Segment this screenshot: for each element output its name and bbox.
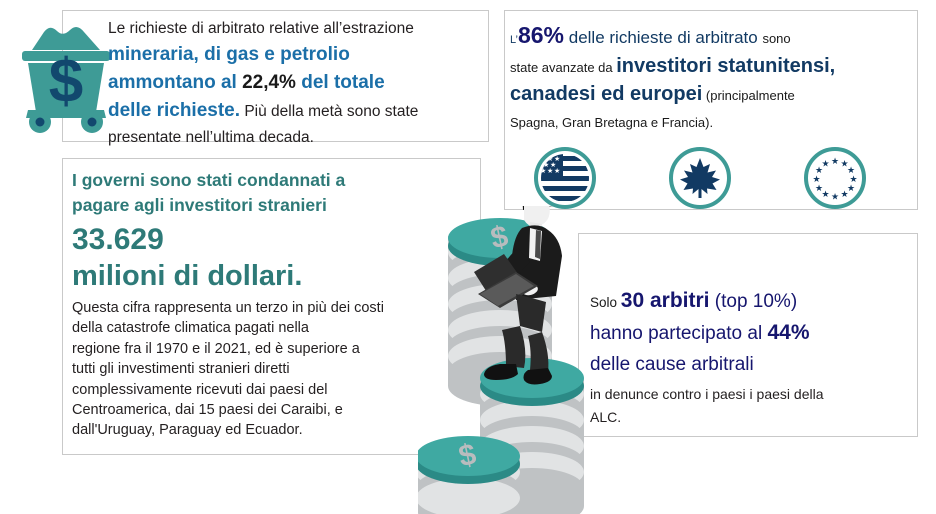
european-union-flag-icon: ★ ★ ★ ★ ★ ★ ★ ★ ★ ★ ★ ★	[803, 146, 867, 210]
gov-body-line-5: Centroamerica, dai 15 paesi dei Caraibi,…	[72, 402, 343, 418]
investors-line4: Spagna, Gran Bretagna e Francia).	[510, 115, 713, 130]
arb-stat-percent: 44%	[767, 321, 809, 344]
svg-text:★: ★	[831, 156, 839, 166]
government-payouts-body: Questa cifra rappresenta un terzo in più…	[72, 298, 390, 441]
canada-flag-icon	[668, 146, 732, 210]
investor-origin-text: L’86% delle richieste di arbitrato sono …	[510, 22, 914, 136]
svg-text:★: ★	[812, 174, 820, 184]
svg-text:★: ★	[547, 167, 553, 175]
svg-text:★: ★	[554, 167, 560, 175]
mining-claims-text: Le richieste di arbitrato relative all’e…	[108, 16, 488, 150]
gov-body-line-1: della catastrofe climatica pagati nella	[72, 320, 309, 336]
mining-line-1: Le richieste di arbitrato relative all’e…	[108, 20, 414, 37]
gov-heading-line-1: I governi sono stati condannati a	[72, 170, 345, 190]
united-states-flag-icon: ★★★ ★★ ★★★	[533, 146, 597, 210]
svg-text:★: ★	[540, 167, 546, 175]
svg-text:★: ★	[831, 192, 839, 202]
mining-line-4-rest: Più della metà sono state	[240, 103, 418, 120]
mining-line-3a: ammontano al	[108, 72, 242, 93]
svg-text:★: ★	[821, 159, 829, 169]
coin-stacks-with-businessman: $ $	[418, 206, 618, 514]
svg-text:★: ★	[815, 183, 823, 193]
arb-stat-count: 30 arbitri	[621, 289, 710, 312]
arb-body-line-1: in denunce contro i paesi i paesi della	[590, 385, 910, 404]
investors-line2-bold: investitori statunitensi,	[616, 55, 835, 77]
gov-body-line-6: dall'Uruguay, Paraguay ed Ecuador.	[72, 422, 303, 438]
investors-stat-percent: 86%	[518, 22, 564, 48]
mining-line-2: mineraria, di gas e petrolio	[108, 44, 350, 65]
arb-body-line-2: ALC.	[590, 408, 910, 427]
svg-text:$: $	[49, 47, 83, 116]
mining-line-5: presentate nell’ultima decada.	[108, 129, 314, 146]
investors-prefix: L’	[510, 34, 518, 46]
investors-after-stat: delle richieste di arbitrato	[564, 28, 762, 47]
gov-body-line-2: regione fra il 1970 e il 2021, ed è supe…	[72, 341, 360, 357]
arb-after-count: (top 10%)	[710, 291, 798, 312]
arbitrators-text: Solo 30 arbitri (top 10%) hanno partecip…	[590, 286, 910, 427]
mining-stat-percent: 22,4%	[242, 72, 296, 93]
government-payout-amount: 33.629	[72, 222, 472, 258]
infographic-canvas: $ Le richieste di arbitrato relative all…	[0, 0, 936, 514]
investors-line3-rest: (principalmente	[702, 88, 795, 103]
mining-line-3b: del totale	[296, 72, 385, 93]
gov-body-line-0: Questa cifra rappresenta un terzo in più…	[72, 300, 384, 316]
gov-body-line-3: tutti gli investimenti stranieri diretti	[72, 361, 290, 377]
gov-body-line-4: complessivamente ricevuti dai paesi del	[72, 382, 328, 398]
government-payouts-heading: I governi sono stati condannati a pagare…	[72, 168, 472, 218]
flag-icons-group: ★★★ ★★ ★★★ ★ ★ ★ ★ ★ ★ ★ ★ ★	[525, 146, 905, 212]
investors-small-1: sono	[762, 31, 790, 46]
government-payout-unit: milioni di dollari.	[72, 258, 472, 294]
gov-heading-line-2: pagare agli investitori stranieri	[72, 195, 327, 215]
investors-line3-bold: canadesi ed europei	[510, 83, 702, 105]
svg-text:★: ★	[840, 189, 848, 199]
mining-line-4-bold: delle richieste.	[108, 100, 240, 121]
mining-cart-dollar-icon: $	[14, 18, 118, 134]
investors-line2-small: state avanzate da	[510, 60, 616, 75]
